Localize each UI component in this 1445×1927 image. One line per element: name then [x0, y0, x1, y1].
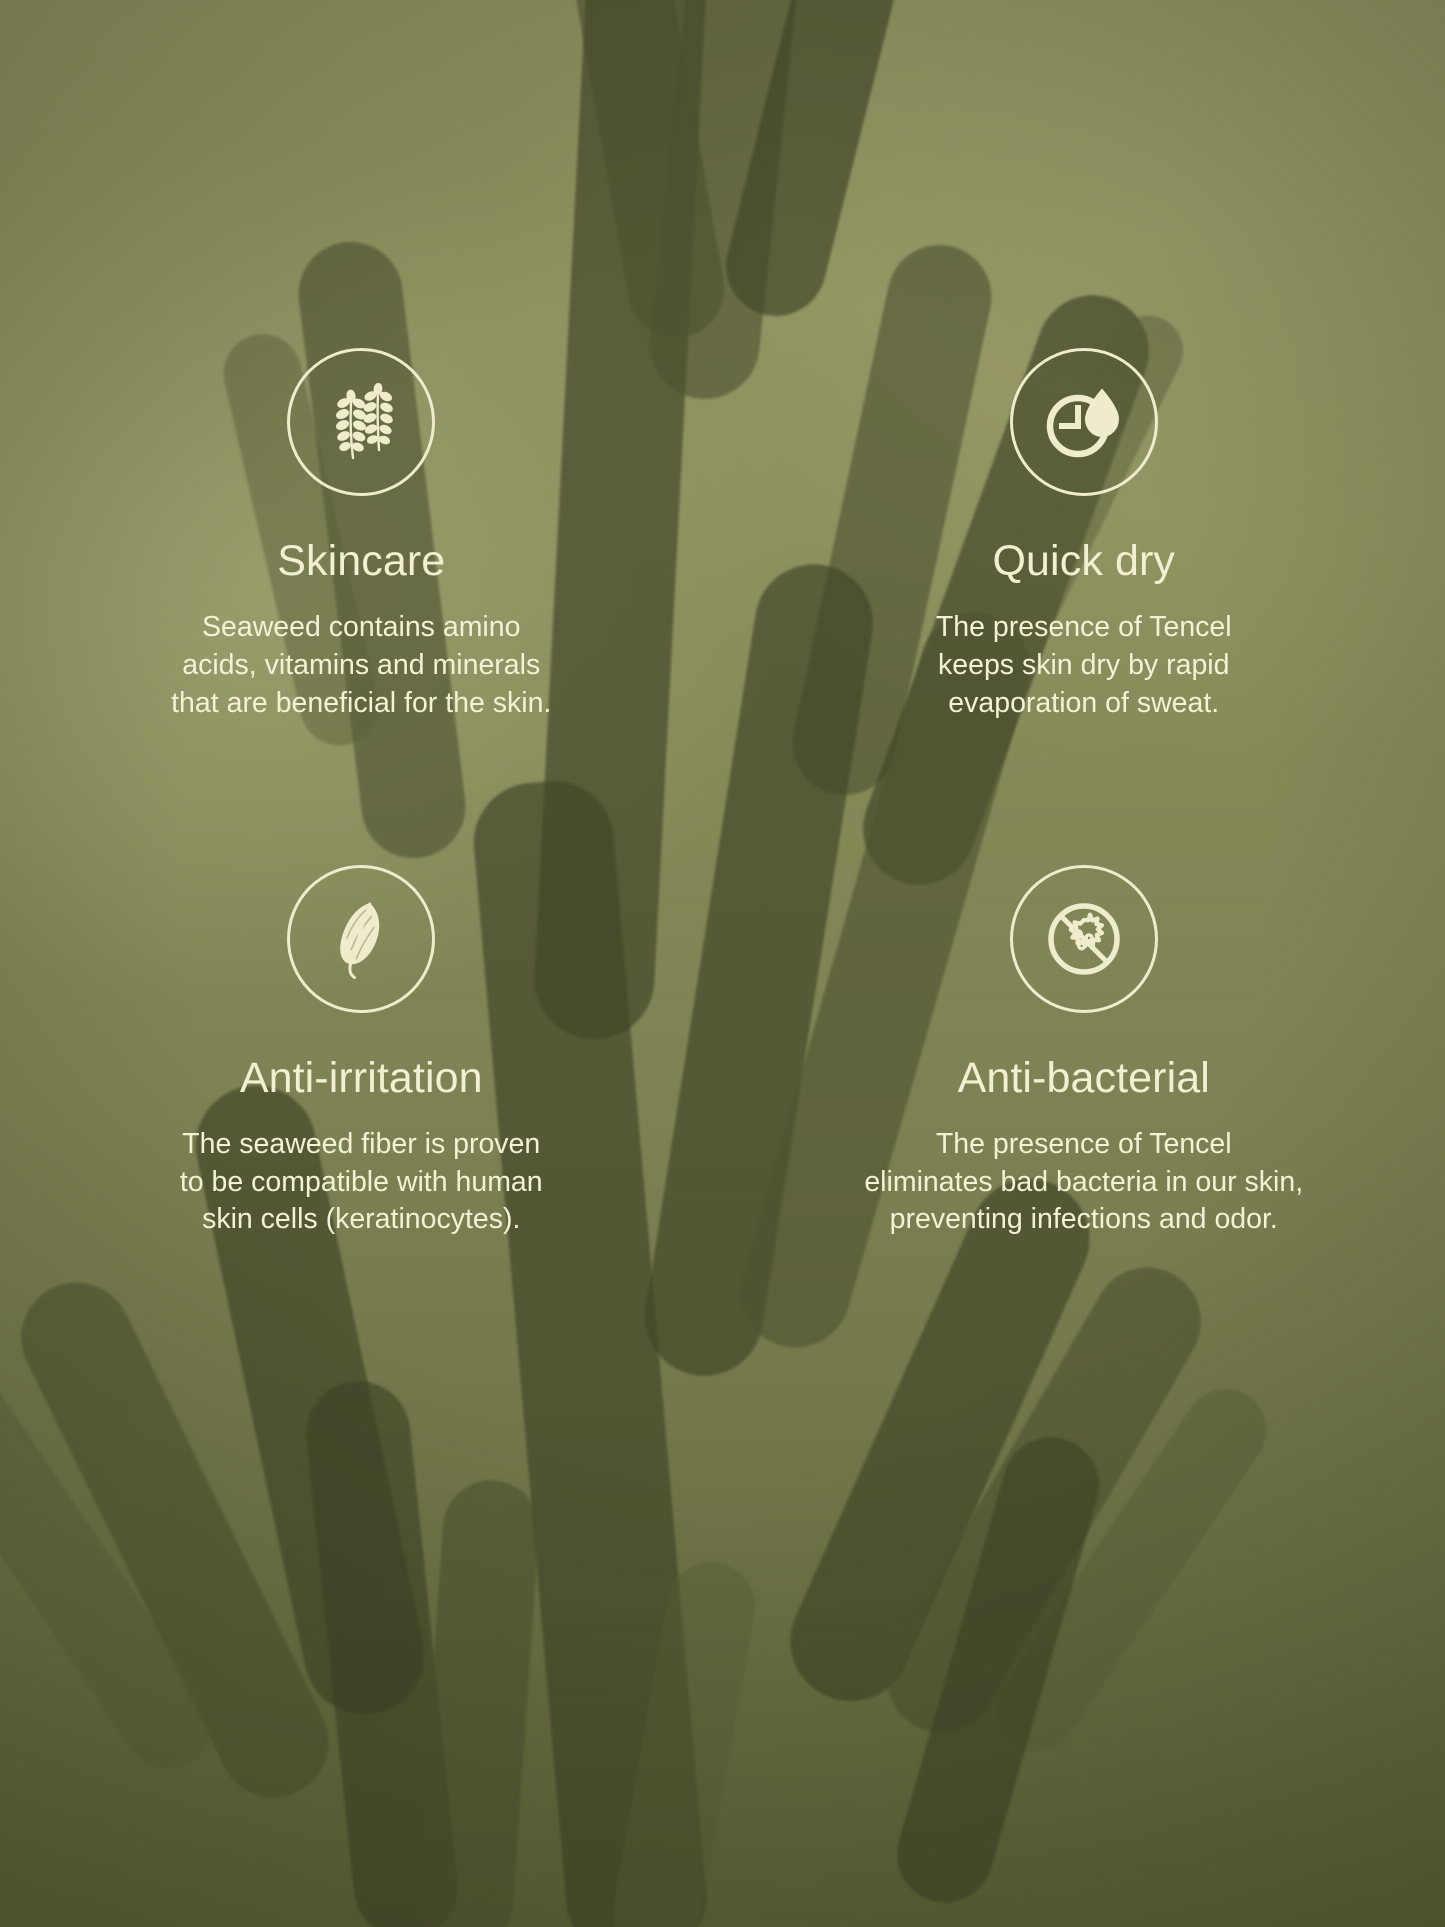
feature-description: Seaweed contains amino acids, vitamins a…	[171, 609, 551, 723]
seaweed-plant-icon	[287, 348, 435, 496]
desc-line: keeps skin dry by rapid	[936, 647, 1232, 685]
feature-title: Quick dry	[993, 540, 1176, 583]
feature-description: The presence of Tencel eliminates bad ba…	[864, 1126, 1303, 1240]
feature-card-quick-dry: Quick dry The presence of Tencel keeps s…	[723, 348, 1445, 723]
desc-line: to be compatible with human	[180, 1164, 543, 1202]
feature-title: Skincare	[277, 540, 445, 583]
desc-line: that are beneficial for the skin.	[171, 685, 551, 723]
desc-line: skin cells (keratinocytes).	[180, 1201, 543, 1239]
feature-description: The seaweed fiber is proven to be compat…	[180, 1126, 543, 1240]
desc-line: The presence of Tencel	[864, 1126, 1303, 1164]
product-feature-panel: Skincare Seaweed contains amino acids, v…	[0, 0, 1445, 1927]
clock-water-droplet-icon	[1010, 348, 1158, 496]
feature-card-skincare: Skincare Seaweed contains amino acids, v…	[0, 348, 723, 723]
feature-title: Anti-irritation	[240, 1057, 483, 1100]
feature-description: The presence of Tencel keeps skin dry by…	[936, 609, 1232, 723]
feature-title: Anti-bacterial	[958, 1057, 1210, 1100]
no-bacteria-icon	[1010, 865, 1158, 1013]
feather-icon	[287, 865, 435, 1013]
desc-line: eliminates bad bacteria in our skin,	[864, 1164, 1303, 1202]
desc-line: acids, vitamins and minerals	[171, 647, 551, 685]
desc-line: Seaweed contains amino	[171, 609, 551, 647]
desc-line: preventing infections and odor.	[864, 1201, 1303, 1239]
desc-line: The seaweed fiber is proven	[180, 1126, 543, 1164]
desc-line: evaporation of sweat.	[936, 685, 1232, 723]
feature-card-anti-bacterial: Anti-bacterial The presence of Tencel el…	[723, 865, 1445, 1240]
feature-card-anti-irritation: Anti-irritation The seaweed fiber is pro…	[0, 865, 723, 1240]
feature-grid: Skincare Seaweed contains amino acids, v…	[0, 0, 1445, 1927]
desc-line: The presence of Tencel	[936, 609, 1232, 647]
